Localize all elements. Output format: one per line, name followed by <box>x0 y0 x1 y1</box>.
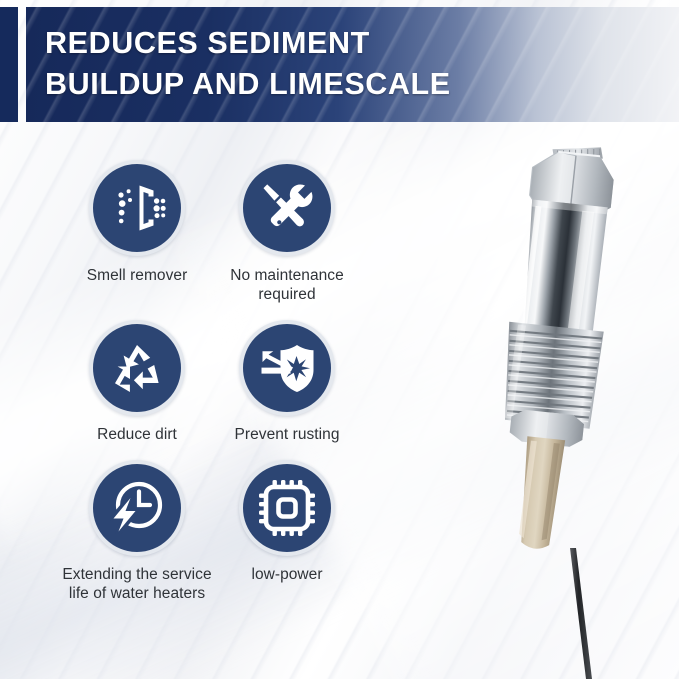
product-image-anode-rod <box>430 130 679 679</box>
wrench-screwdriver-icon <box>239 160 335 256</box>
product-infographic: REDUCES SEDIMENT BUILDUP AND LIMESCALE <box>0 0 679 679</box>
feature-label: Smell remover <box>87 266 188 285</box>
feature-label: Reduce dirt <box>97 425 177 444</box>
odor-particles-filter-icon <box>89 160 185 256</box>
header-banner: REDUCES SEDIMENT BUILDUP AND LIMESCALE <box>0 7 679 122</box>
feature-low-power: low-power <box>212 460 362 603</box>
feature-row: Smell remover No main <box>62 160 362 304</box>
clock-lightning-icon <box>89 460 185 556</box>
feature-extending-service-life: Extending the service life of water heat… <box>62 460 212 603</box>
ceramic-insulator <box>516 436 565 550</box>
microchip-icon <box>239 460 335 556</box>
chrome-body <box>518 199 607 339</box>
feature-reduce-dirt: Reduce dirt <box>62 320 212 444</box>
feature-grid: Smell remover No main <box>62 160 362 619</box>
titanium-wire <box>570 548 592 679</box>
feature-row: Reduce dirt <box>62 320 362 444</box>
feature-label: Extending the service life of water heat… <box>62 565 211 603</box>
feature-label: No maintenance required <box>230 266 344 304</box>
feature-no-maintenance: No maintenance required <box>212 160 362 304</box>
feature-label: low-power <box>251 565 322 584</box>
feature-smell-remover: Smell remover <box>62 160 212 304</box>
header-accent-tab <box>0 7 18 122</box>
recycle-icon <box>89 320 185 416</box>
feature-row: Extending the service life of water heat… <box>62 460 362 603</box>
page-title: REDUCES SEDIMENT BUILDUP AND LIMESCALE <box>45 23 451 105</box>
feature-label: Prevent rusting <box>235 425 340 444</box>
feature-prevent-rusting: Prevent rusting <box>212 320 362 444</box>
shield-deflect-icon <box>239 320 335 416</box>
